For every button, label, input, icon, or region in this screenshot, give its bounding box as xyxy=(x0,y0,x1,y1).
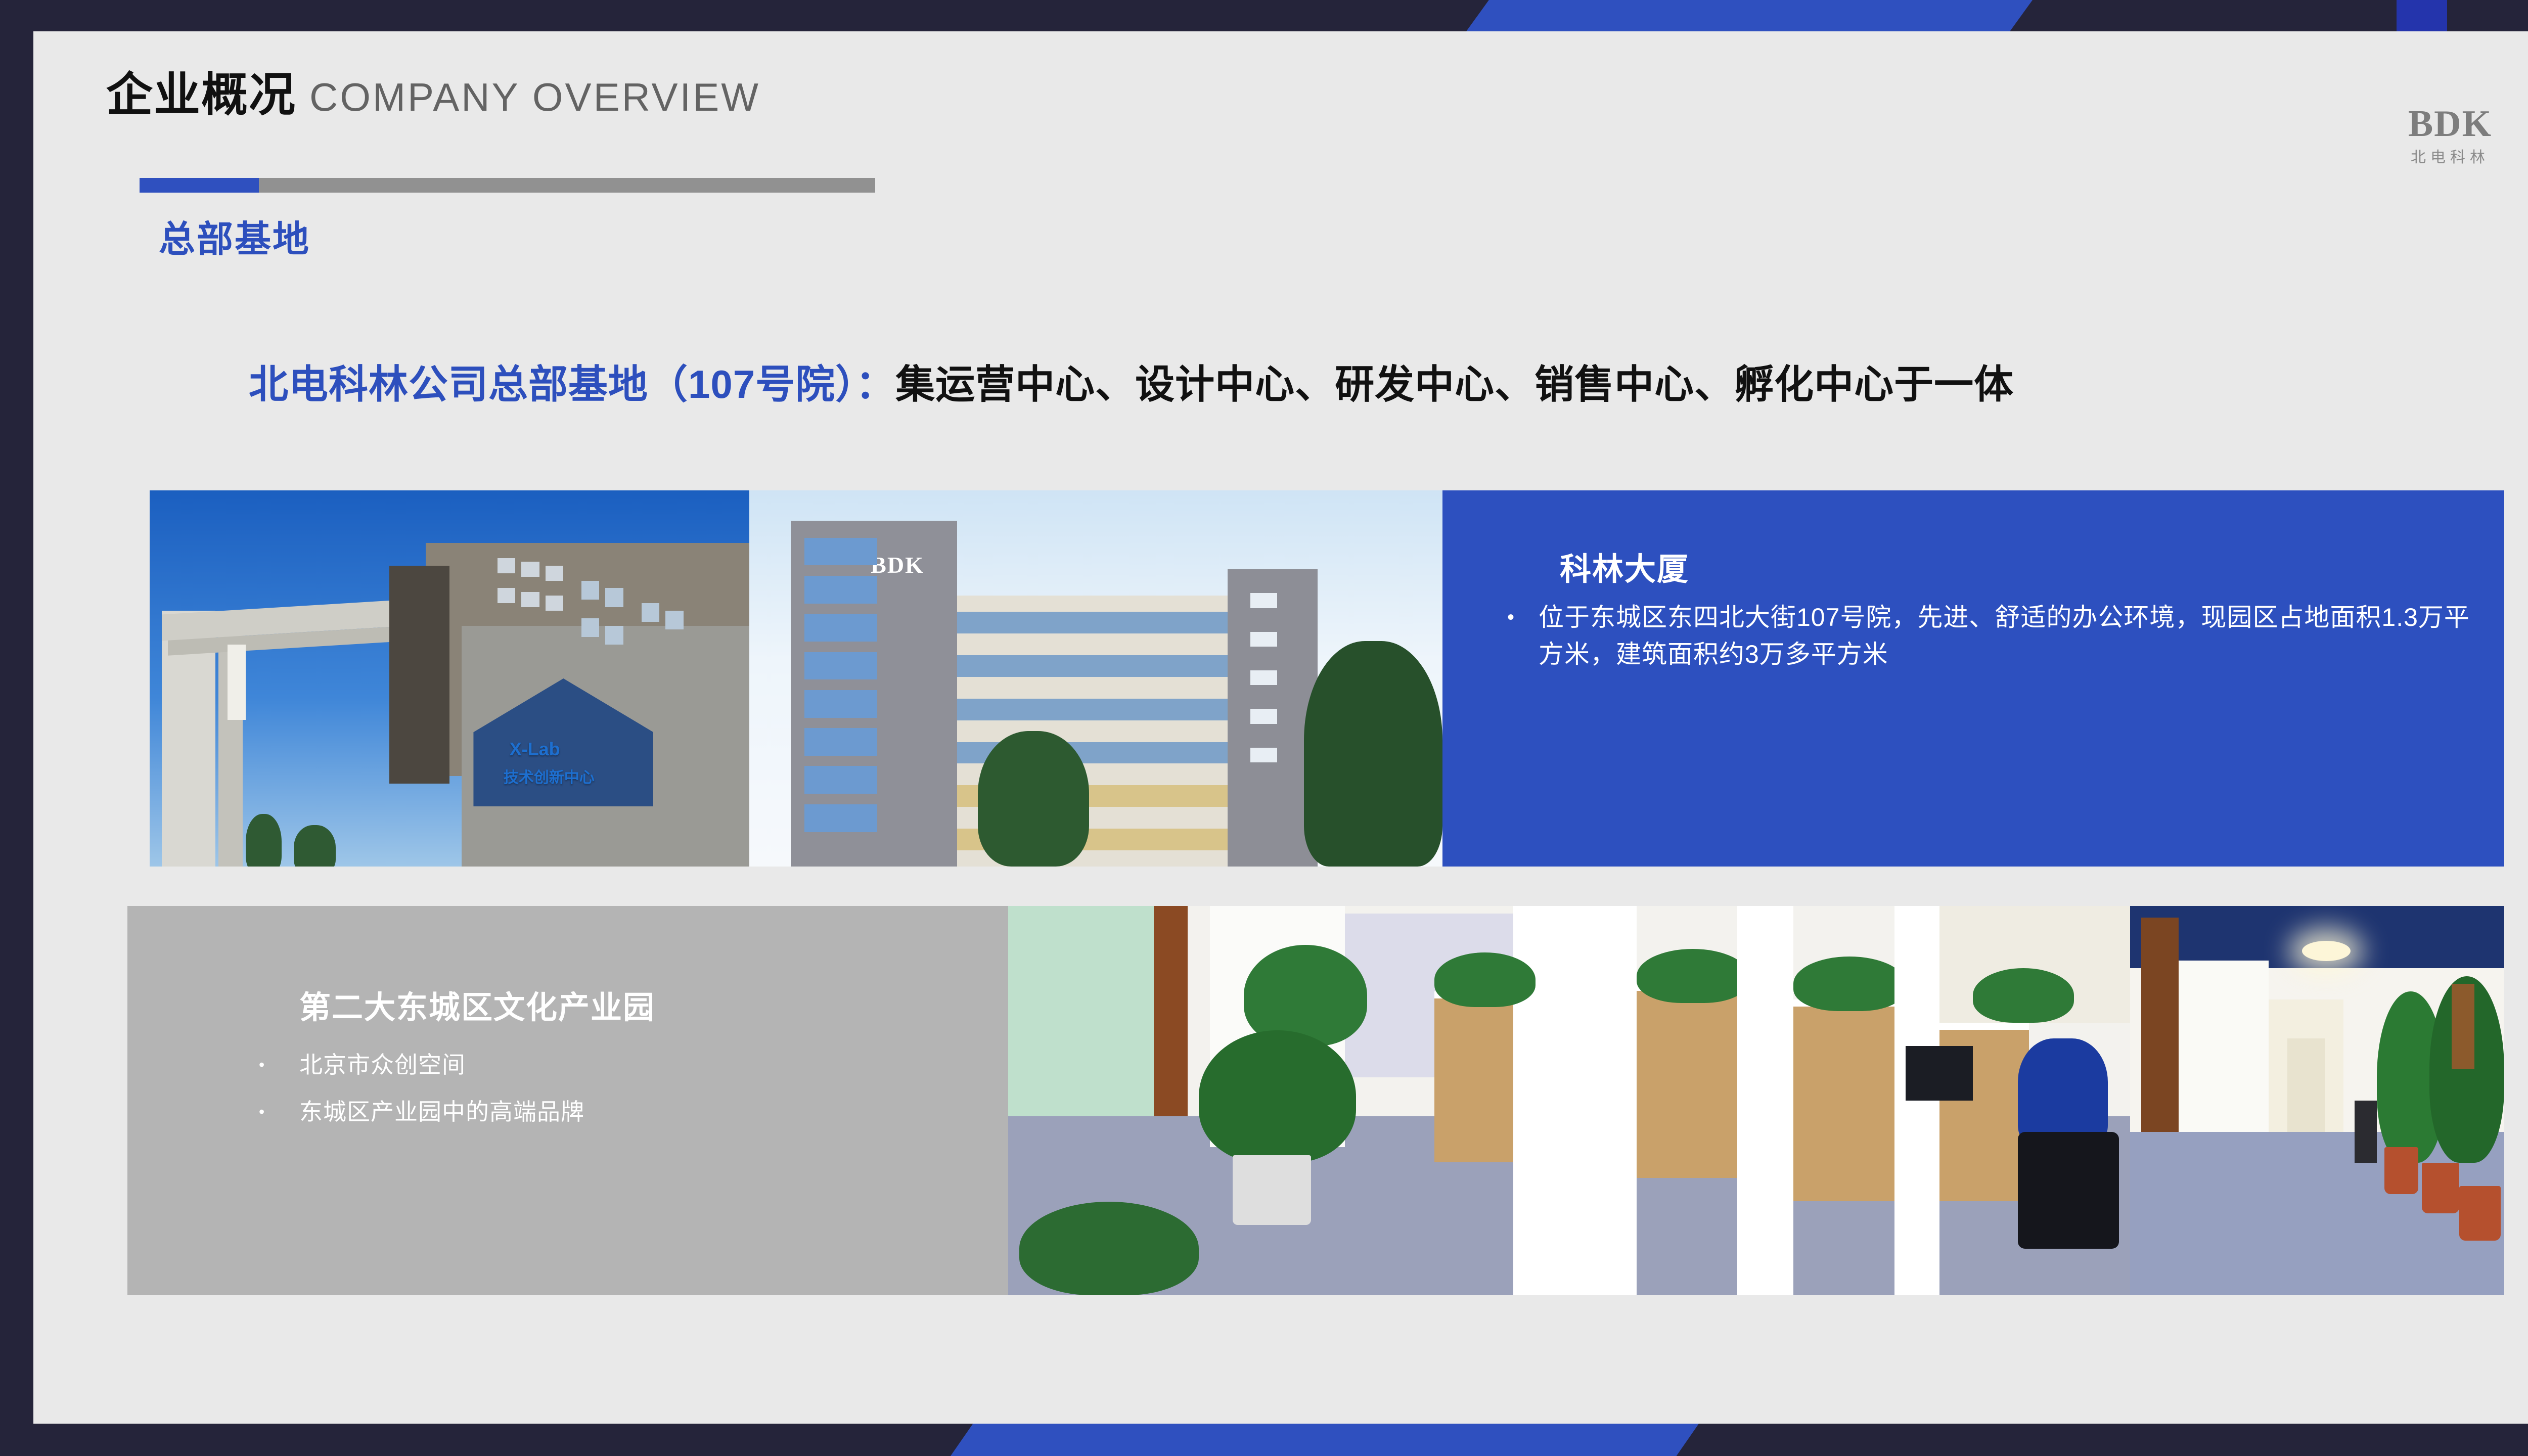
slide-header: 企业概况 COMPANY OVERVIEW xyxy=(106,72,760,118)
photo-caption-xlab: X-Lab xyxy=(510,739,560,760)
brand-logo: BDK 北电科林 xyxy=(2405,106,2496,167)
photo-office-corridor xyxy=(1008,906,2130,1295)
blue-card-title: 科林大厦 xyxy=(1560,543,1689,589)
headline-blue-part: 北电科林公司总部基地（107号院）： xyxy=(249,362,895,406)
logo-wordmark: BDK xyxy=(2405,106,2496,142)
header-rule-accent xyxy=(140,178,259,193)
photo-bdk-tower: BDK xyxy=(749,490,1442,867)
bottom-media-row: 第二大东城区文化产业园 • 北京市众创空间 • 东城区产业园中的高端品牌 xyxy=(127,906,2504,1295)
list-item: • 位于东城区东四北大街107号院，先进、舒适的办公环境，现园区占地面积1.3万… xyxy=(1507,599,2476,672)
bullet-icon: • xyxy=(259,1041,299,1088)
grey-card-list: • 北京市众创空间 • 东城区产业园中的高端品牌 xyxy=(259,1041,584,1135)
photo-gateway-xlab: X-Lab 技术创新中心 xyxy=(150,490,749,867)
highlight-card-grey: 第二大东城区文化产业园 • 北京市众创空间 • 东城区产业园中的高端品牌 xyxy=(127,906,1008,1295)
photo-caption-xlab-cn: 技术创新中心 xyxy=(504,765,595,787)
photo-sign-bdk: BDK xyxy=(871,552,924,578)
list-item-text: 北京市众创空间 xyxy=(299,1041,466,1088)
highlight-card-blue: 科林大厦 • 位于东城区东四北大街107号院，先进、舒适的办公环境，现园区占地面… xyxy=(1442,490,2504,867)
list-item: • 东城区产业园中的高端品牌 xyxy=(259,1088,584,1135)
photo-hallway xyxy=(2130,906,2504,1295)
list-item-text: 东城区产业园中的高端品牌 xyxy=(299,1088,584,1135)
list-item-text: 位于东城区东四北大街107号院，先进、舒适的办公环境，现园区占地面积1.3万平方… xyxy=(1539,599,2476,672)
decoration-bottom-parallelogram xyxy=(951,1424,1699,1456)
decoration-top-parallelogram xyxy=(1466,0,2033,31)
header-rule-track xyxy=(259,178,875,193)
list-item: • 北京市众创空间 xyxy=(259,1041,584,1088)
section-subtitle: 总部基地 xyxy=(159,209,310,262)
page-headline: 北电科林公司总部基地（107号院）：集运营中心、设计中心、研发中心、销售中心、孵… xyxy=(249,353,2014,409)
page-title-cn: 企业概况 xyxy=(106,72,296,118)
headline-black-part: 集运营中心、设计中心、研发中心、销售中心、孵化中心于一体 xyxy=(895,362,2014,406)
blue-card-list: • 位于东城区东四北大街107号院，先进、舒适的办公环境，现园区占地面积1.3万… xyxy=(1507,599,2476,672)
page-title-en: COMPANY OVERVIEW xyxy=(309,77,760,117)
logo-subtext: 北电科林 xyxy=(2405,145,2496,167)
top-media-row: X-Lab 技术创新中心 BDK xyxy=(150,490,2504,867)
bullet-icon: • xyxy=(259,1088,299,1135)
slide-canvas: 企业概况 COMPANY OVERVIEW 总部基地 BDK 北电科林 北电科林… xyxy=(33,31,2528,1424)
bullet-icon: • xyxy=(1507,599,1539,672)
tower-left-block: BDK xyxy=(791,521,957,867)
grey-card-title: 第二大东城区文化产业园 xyxy=(299,982,655,1027)
header-rule xyxy=(140,178,875,193)
